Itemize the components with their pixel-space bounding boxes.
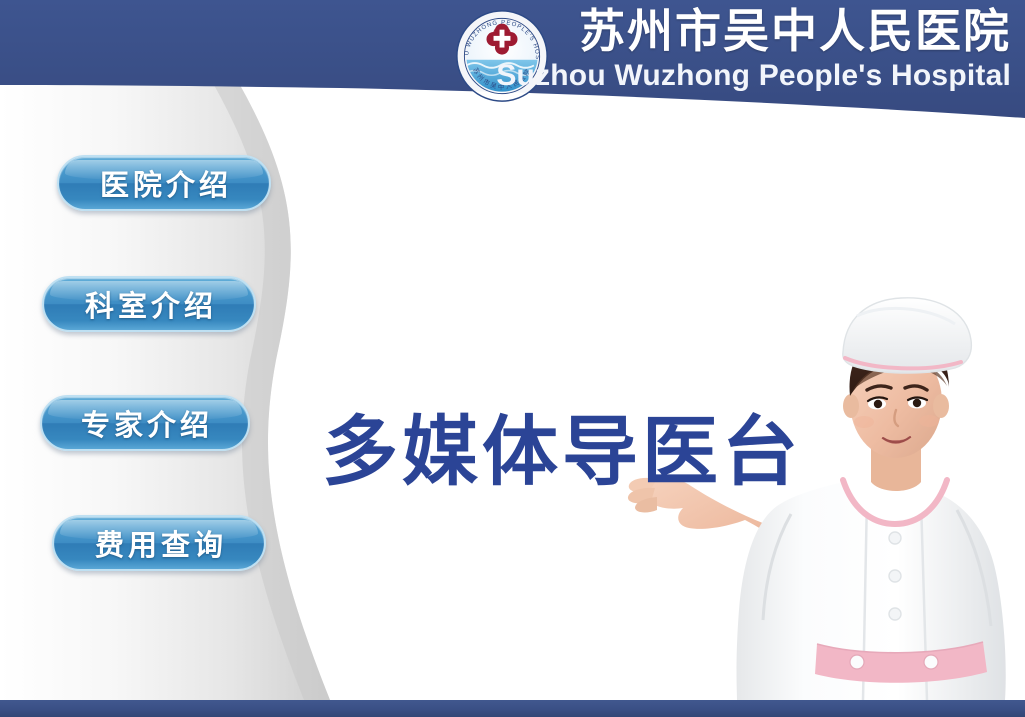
sidebar-item-label: 医院介绍 [96, 162, 232, 204]
sidebar-item-expert-intro[interactable]: 专家介绍 [40, 395, 250, 451]
sidebar-item-department-intro[interactable]: 科室介绍 [42, 276, 256, 332]
hospital-name-cn: 苏州市吴中人民医院 [496, 4, 1011, 58]
sidebar-item-fee-inquiry[interactable]: 费用查询 [52, 515, 266, 571]
sidebar-item-label: 科室介绍 [81, 283, 217, 325]
hospital-name-en: Suzhou Wuzhong People's Hospital [496, 58, 1011, 94]
sidebar-item-label: 费用查询 [91, 522, 227, 564]
page-title: 多媒体导医台 [322, 409, 802, 495]
sidebar-nav: 医院介绍 科室介绍 专家介绍 费用查询 [0, 120, 300, 700]
footer-bar [0, 700, 1025, 717]
brand-block: 苏州市吴中人民医院 Suzhou Wuzhong People's Hospit… [496, 4, 1011, 94]
sidebar-item-hospital-intro[interactable]: 医院介绍 [57, 155, 271, 211]
kiosk-screen: SUZHOU WUZHONG PEOPLE'S HOSPITAL 苏州市吴中人民… [0, 0, 1025, 717]
sidebar-item-label: 专家介绍 [77, 402, 213, 444]
